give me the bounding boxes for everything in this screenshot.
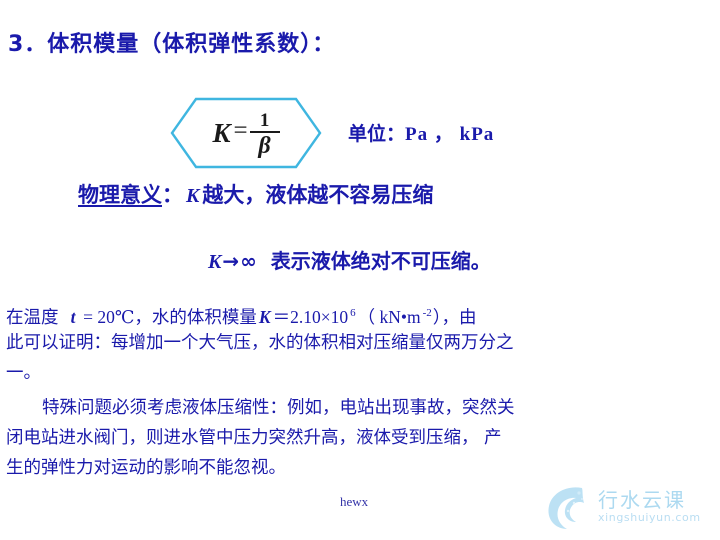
paragraph-2-line-3: 生的弹性力对运动的影响不能忽视。 (6, 453, 286, 483)
slide-canvas: 3．体积模量（体积弹性系数）： K = 1 β 单位：Pa ， kPa 物理意义… (0, 0, 720, 540)
watermark-brand-cn: 行水云课 (598, 489, 701, 511)
meaning-text: 越大，液体越不容易压缩 (202, 183, 433, 207)
fraction-denominator: β (258, 133, 270, 158)
fraction-numerator: 1 (256, 111, 274, 131)
meaning-colon: ： (162, 183, 183, 207)
limit-text: 表示液体绝对不可压缩。 (271, 249, 491, 273)
footer-author: hewx (340, 494, 368, 510)
p1-temperature: = 20℃，水的体积模量 (82, 307, 258, 327)
infinity-icon: ∞ (240, 249, 257, 273)
p1-exponent: 6 (349, 307, 357, 319)
limit-line: K→∞ 表示液体绝对不可压缩。 (208, 245, 491, 274)
paragraph-2-line-1: 特殊问题必须考虑液体压缩性：例如，电站出现事故，突然关 (6, 393, 515, 423)
paragraph-2-line-2: 闭电站进水阀门，则进水管中压力突然升高，液体受到压缩， 产 (6, 423, 502, 453)
unit-line: 单位：Pa ， kPa (348, 119, 494, 146)
watermark-brand-en: xingshuiyun.com (598, 511, 701, 525)
wave-logo-icon (538, 479, 594, 535)
p1-value: ＝2.10×10 (272, 307, 350, 327)
meaning-symbol-k: K (183, 185, 202, 207)
formula-hexagon: K = 1 β (170, 97, 322, 169)
unit-values: Pa ， kPa (405, 124, 494, 145)
page-title: 3．体积模量（体积弹性系数）： (8, 26, 335, 58)
formula-equals: = (233, 117, 249, 149)
physical-meaning-line: 物理意义：K越大，液体越不容易压缩 (78, 179, 433, 209)
p1-pre: 在温度 (6, 308, 59, 328)
watermark: 行水云课 xingshuiyun.com (538, 478, 713, 536)
p1-unit-open: （ kN•m (357, 307, 422, 327)
formula-symbol-k: K (212, 118, 233, 149)
p1-unit-exponent: -2 (422, 307, 433, 319)
limit-symbol-k: K (208, 251, 221, 273)
right-arrow-icon: → (221, 249, 240, 273)
meaning-label: 物理意义 (78, 183, 162, 207)
p1-variable-t: t (70, 307, 77, 327)
unit-label: 单位： (348, 123, 405, 145)
watermark-text: 行水云课 xingshuiyun.com (598, 489, 701, 525)
bulk-modulus-formula: K = 1 β (170, 97, 322, 169)
formula-fraction: 1 β (250, 111, 280, 158)
paragraph-1-line-2: 此可以证明：每增加一个大气压，水的体积相对压缩量仅两万分之 (6, 328, 514, 358)
p1-unit-close: ），由 (433, 308, 477, 328)
paragraph-1-line-3: 一。 (6, 358, 41, 388)
p1-variable-k: K (258, 307, 272, 327)
